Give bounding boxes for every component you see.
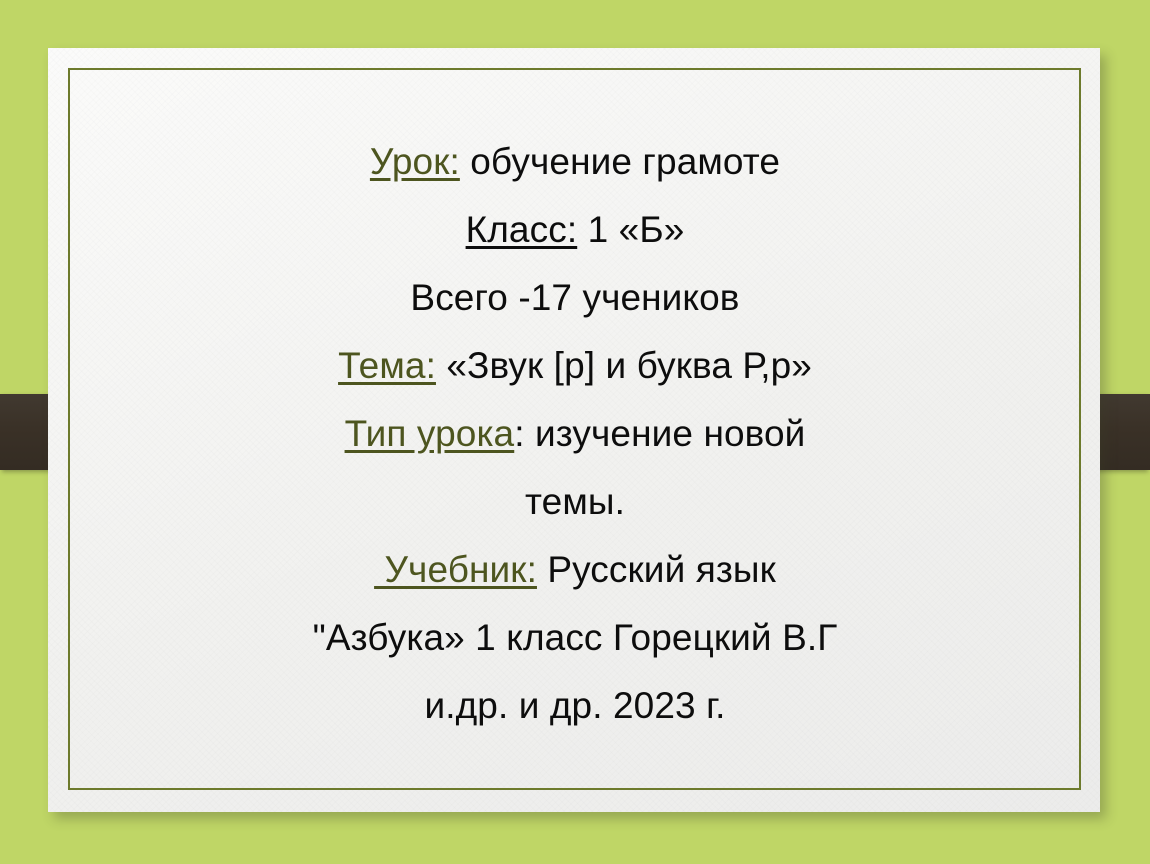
lesson-info-text-block: Урок: обучение грамотеКласс: 1 «Б»Всего … [0,128,1150,740]
text-line-topic: Тема: «Звук [р] и буква Р,р» [0,332,1150,400]
text-line-class: Класс: 1 «Б» [0,196,1150,264]
label-lesson: Урок: [370,141,460,182]
value-textbook-cont: "Азбука» 1 класс Горецкий В.Г [313,617,838,658]
text-line-lesson: Урок: обучение грамоте [0,128,1150,196]
label-textbook: Учебник: [374,549,537,590]
slide-canvas: Урок: обучение грамотеКласс: 1 «Б»Всего … [0,0,1150,864]
text-line-lesson-type: Тип урока: изучение новой [0,400,1150,468]
text-line-textbook: Учебник: Русский язык [0,536,1150,604]
value-total-students: Всего -17 учеников [410,277,739,318]
value-textbook: Русский язык [537,549,776,590]
text-line-textbook-cont: "Азбука» 1 класс Горецкий В.Г [0,604,1150,672]
value-textbook-year: и.др. и др. 2023 г. [424,685,725,726]
value-lesson: обучение грамоте [460,141,780,182]
label-topic: Тема: [338,345,436,386]
text-line-total-students: Всего -17 учеников [0,264,1150,332]
text-line-lesson-type-cont: темы. [0,468,1150,536]
text-line-textbook-year: и.др. и др. 2023 г. [0,672,1150,740]
label-class: Класс: [466,209,578,250]
value-lesson-type: : изучение новой [514,413,805,454]
value-class: 1 «Б» [577,209,684,250]
label-lesson-type: Тип урока [345,413,515,454]
value-topic: «Звук [р] и буква Р,р» [436,345,812,386]
value-lesson-type-cont: темы. [525,481,625,522]
